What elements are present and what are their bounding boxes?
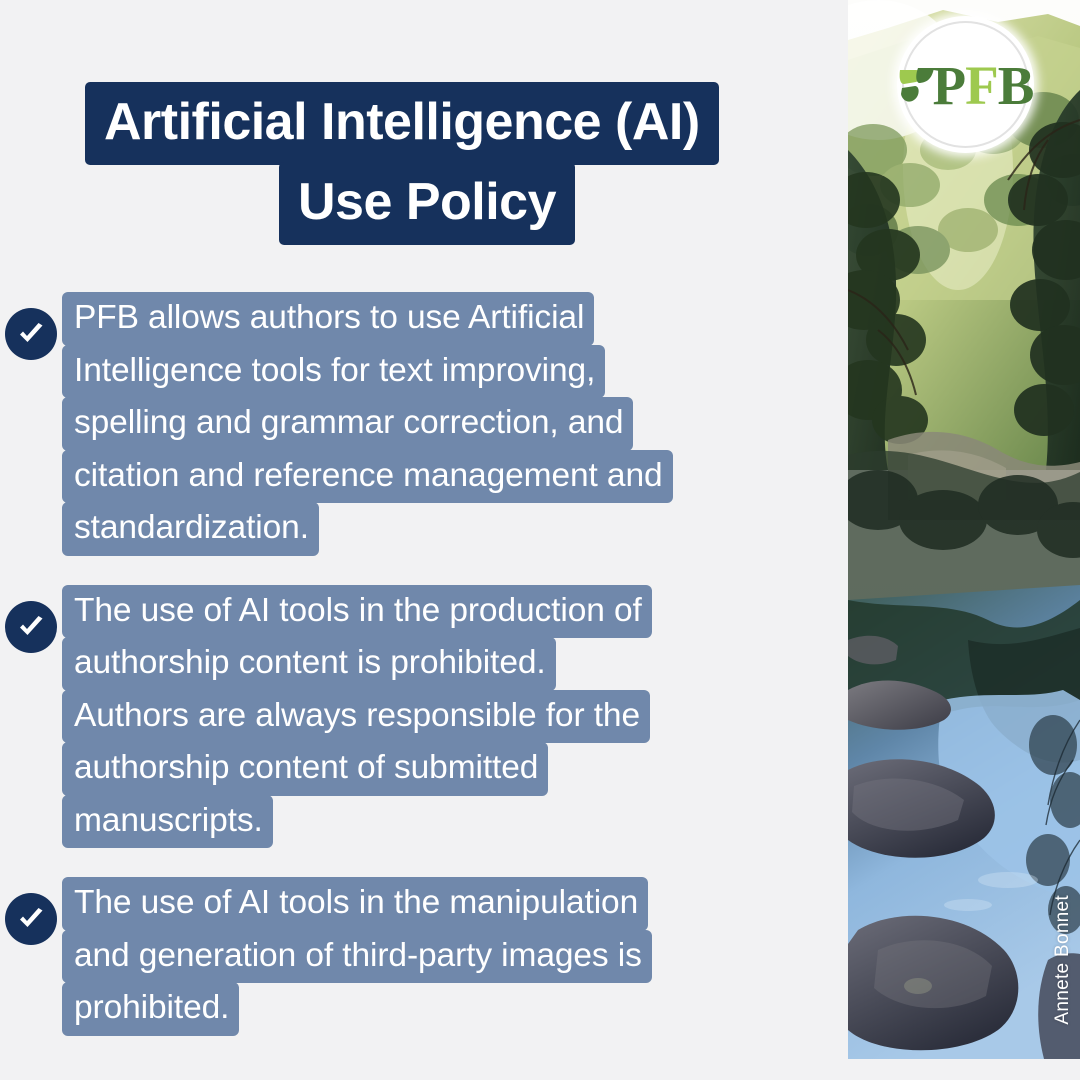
policy-bullet-item: The use of AI tools in the manipulation … (0, 877, 848, 1035)
policy-bullet-line: spelling and grammar correction, and (62, 397, 633, 451)
leaf-icon (898, 62, 938, 110)
policy-bullet-item: The use of AI tools in the production of… (0, 585, 848, 848)
policy-bullet-text: The use of AI tools in the manipulation … (62, 877, 848, 1035)
logo-letter-p: P (933, 55, 966, 116)
nature-photo (848, 0, 1080, 1059)
policy-bullet-list: PFB allows authors to use Artificial Int… (0, 292, 848, 1065)
policy-bullet-line: Intelligence tools for text improving, (62, 345, 605, 399)
photo-panel: Annete Bonnet (848, 0, 1080, 1059)
policy-bullet-line: standardization. (62, 502, 319, 556)
logo-letter-b: B (998, 55, 1034, 116)
logo-letter-f: F (965, 55, 998, 116)
policy-bullet-text: PFB allows authors to use Artificial Int… (62, 292, 848, 555)
check-wrap (0, 292, 62, 360)
photo-credit: Annete Bonnet (1052, 895, 1074, 1025)
logo-wordmark: PFB (933, 58, 1034, 113)
policy-bullet-line: and generation of third-party images is (62, 930, 652, 984)
check-wrap (0, 585, 62, 653)
poster-canvas: Annete Bonnet PFB Artificial Intelligenc… (0, 0, 1080, 1080)
policy-bullet-item: PFB allows authors to use Artificial Int… (0, 292, 848, 555)
policy-bullet-line: citation and reference management and (62, 450, 673, 504)
policy-bullet-text: The use of AI tools in the production of… (62, 585, 848, 848)
check-circle-icon (5, 893, 57, 945)
check-wrap (0, 877, 62, 945)
pfb-logo: PFB (897, 16, 1034, 153)
check-circle-icon (5, 308, 57, 360)
page-title: Artificial Intelligence (AI) Use Policy (85, 82, 775, 242)
policy-bullet-line: The use of AI tools in the manipulation (62, 877, 648, 931)
policy-bullet-line: prohibited. (62, 982, 239, 1036)
policy-bullet-line: authorship content is prohibited. (62, 637, 556, 691)
policy-bullet-line: authorship content of submitted (62, 742, 548, 796)
page-title-line-1: Artificial Intelligence (AI) (85, 82, 719, 165)
check-circle-icon (5, 601, 57, 653)
policy-bullet-line: manuscripts. (62, 795, 273, 849)
policy-bullet-line: PFB allows authors to use Artificial (62, 292, 594, 346)
page-title-line-2: Use Policy (279, 162, 575, 245)
policy-bullet-line: Authors are always responsible for the (62, 690, 650, 744)
policy-bullet-line: The use of AI tools in the production of (62, 585, 652, 639)
